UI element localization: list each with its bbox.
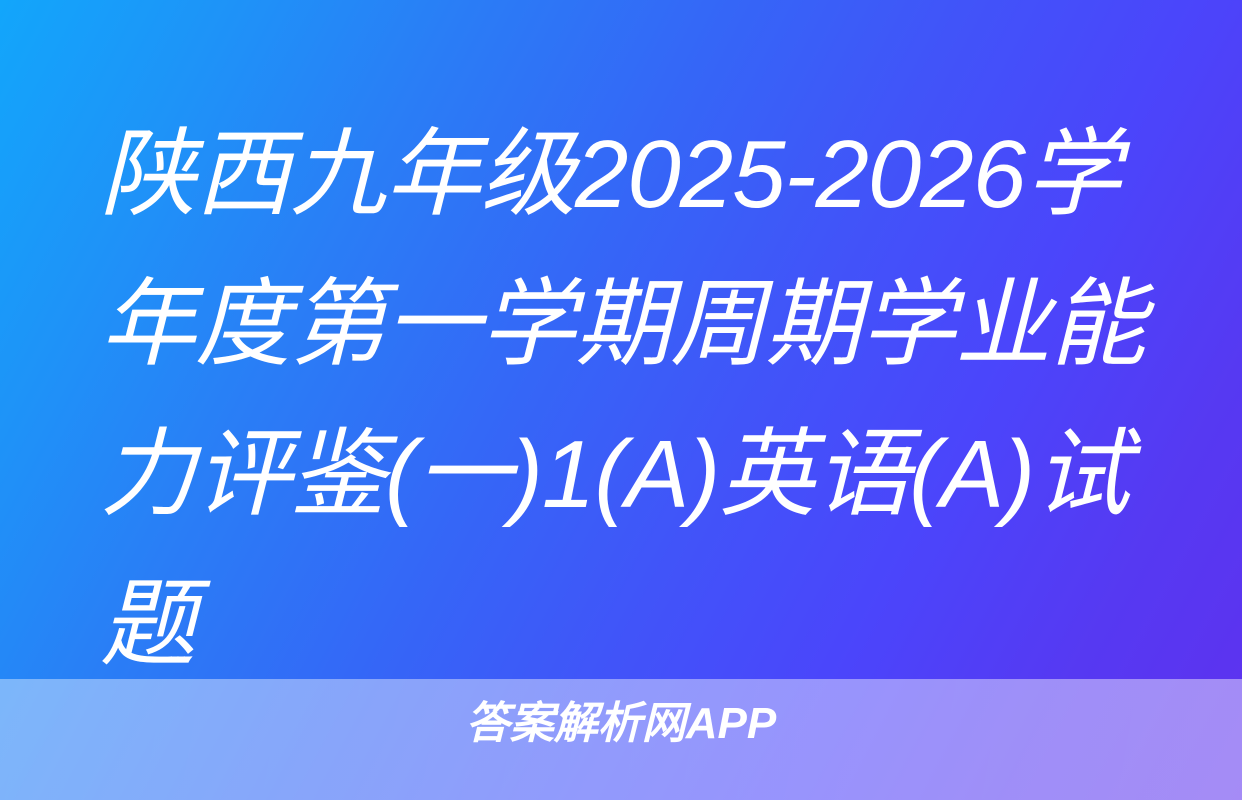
poster-canvas: 陕西九年级2025-2026学年度第一学期周期学业能力评鉴(一)1(A)英语(A… — [0, 0, 1242, 800]
app-name-label: 答案解析网APP — [0, 696, 1242, 752]
page-title: 陕西九年级2025-2026学年度第一学期周期学业能力评鉴(一)1(A)英语(A… — [100, 100, 1170, 700]
